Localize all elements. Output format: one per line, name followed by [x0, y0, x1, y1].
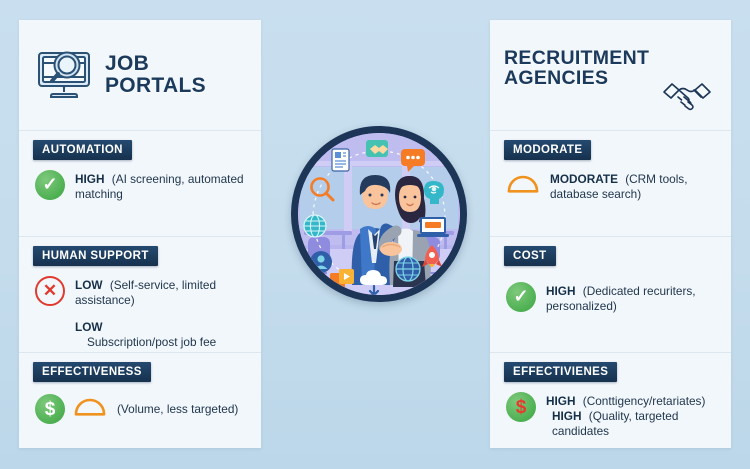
chip-effectivienes: EFFECTIVIENES — [504, 362, 617, 382]
row-cost: ✓ HIGH (Dedicated recuriters, personaliz… — [490, 266, 731, 314]
row-human-support: ✕ LOW (Self-service, limited assistance)… — [19, 266, 261, 350]
detail-cost-left: Subscription/post job fee — [75, 335, 249, 350]
job-portals-title: JOB PORTALS — [105, 53, 247, 97]
row-text-effectiveness: (Volume, less targeted) — [117, 398, 238, 417]
row-text-automation: HIGH (AI screening, automated matching — [75, 168, 249, 202]
row-icons-cost: ✓ — [506, 280, 536, 312]
row-effectiveness: $ (Volume, less targeted) — [19, 382, 261, 424]
job-portals-header: JOB PORTALS — [19, 20, 261, 130]
row-text-human-support: LOW (Self-service, limited assistance) L… — [75, 274, 249, 350]
green-dollar-icon: $ — [35, 394, 65, 424]
section-effectiveness: EFFECTIVENESS $ (Volume, less targeted) — [19, 352, 261, 448]
section-effectivienes: EFFECTIVIENES $ HIGH (Conttigency/retari… — [490, 352, 731, 448]
red-x-circle-icon: ✕ — [35, 276, 65, 306]
value-effectivienes-1: HIGH — [546, 394, 576, 408]
handshake-business-people-circle-illustration — [291, 126, 467, 302]
row-text-cost: HIGH (Dedicated recuriters, personalized… — [546, 280, 719, 314]
recruitment-agencies-card: RECRUITMENT AGENCIES MODORATE — [490, 20, 731, 448]
row-text-modorate: MODORATE (CRM tools, database search) — [550, 168, 719, 202]
job-portals-card: JOB PORTALS AUTOMATION ✓ HIGH (AI screen… — [19, 20, 261, 448]
section-automation: AUTOMATION ✓ HIGH (AI screening, automat… — [19, 130, 261, 236]
value-human-support: LOW — [75, 278, 103, 292]
chip-modorate: MODORATE — [504, 140, 591, 160]
section-cost: COST ✓ HIGH (Dedicated recuriters, perso… — [490, 236, 731, 352]
row-icons-effectiveness: $ — [35, 392, 107, 424]
recruitment-agencies-header: RECRUITMENT AGENCIES — [490, 20, 731, 130]
green-check-icon: ✓ — [35, 170, 65, 200]
orange-arc-icon — [73, 397, 107, 422]
value-automation: HIGH — [75, 172, 105, 186]
row-automation: ✓ HIGH (AI screening, automated matching — [19, 160, 261, 202]
chip-cost: COST — [504, 246, 556, 266]
monitor-magnifier-icon — [33, 45, 95, 106]
section-modorate: MODORATE MODORATE (CRM tools, database s… — [490, 130, 731, 236]
row-icons-effectivienes: $ — [506, 390, 536, 422]
chip-human-support: HUMAN SUPPORT — [33, 246, 158, 266]
green-dollar-red-icon: $ — [506, 392, 536, 422]
row-modorate: MODORATE (CRM tools, database search) — [490, 160, 731, 202]
infographic-canvas: JOB PORTALS AUTOMATION ✓ HIGH (AI screen… — [0, 0, 750, 469]
row-icons-automation: ✓ — [35, 168, 65, 200]
handshake-icon — [661, 79, 713, 118]
orange-arc-icon — [506, 174, 540, 199]
row-effectivienes: $ HIGH (Conttigency/retariates) HIGH (Qu… — [490, 382, 731, 439]
value-modorate: MODORATE — [550, 172, 618, 186]
row-text-effectivienes: HIGH (Conttigency/retariates) HIGH (Qual… — [546, 390, 719, 439]
detail-effectivienes-1: (Conttigency/retariates) — [583, 394, 706, 408]
green-check-icon: ✓ — [506, 282, 536, 312]
section-human-support: HUMAN SUPPORT ✕ LOW (Self-service, limit… — [19, 236, 261, 352]
row-icons-human-support: ✕ — [35, 274, 65, 306]
value-effectivienes-2: HIGH — [552, 409, 582, 423]
row-icons-modorate — [506, 168, 540, 199]
value-cost: HIGH — [546, 284, 576, 298]
chip-automation: AUTOMATION — [33, 140, 132, 160]
chip-effectiveness: EFFECTIVENESS — [33, 362, 151, 382]
value-cost-left: LOW — [75, 320, 103, 334]
